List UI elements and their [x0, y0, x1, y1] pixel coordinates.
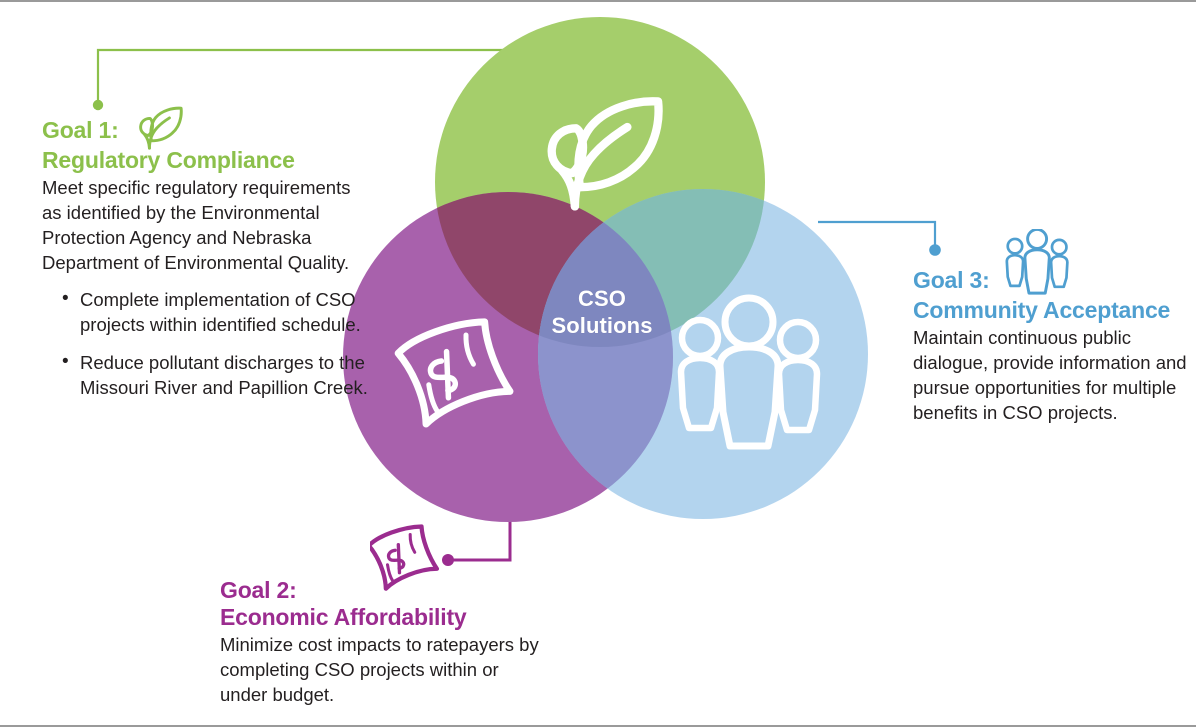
overlap-green-blue [538, 189, 868, 519]
list-item: Reduce pollutant discharges to the Misso… [42, 350, 372, 400]
overlap-green-purple [343, 192, 673, 522]
goal-2-block: Goal 2: Economic Affordability Minimize … [220, 577, 550, 707]
goal-2-number: Goal 2: [220, 577, 550, 604]
goal-1-bullet-list: Complete implementation of CSO projects … [42, 287, 372, 400]
goal-1-number: Goal 1: [42, 117, 119, 144]
leaf-icon [138, 97, 194, 159]
goal-2-title: Economic Affordability [220, 604, 550, 631]
goal-1-heading: Goal 1: Regulatory Compliance [42, 117, 372, 174]
overlap-purple-blue [538, 189, 868, 519]
goal-1-title: Regulatory Compliance [42, 147, 372, 174]
center-label-line2: Solutions [551, 313, 652, 338]
people-group-icon [999, 229, 1077, 305]
goal-3-body: Maintain continuous public dialogue, pro… [913, 325, 1193, 425]
venn-circle-group [343, 17, 868, 522]
people-group-icon [681, 298, 817, 446]
connector-line-goal3 [818, 222, 941, 256]
money-bill-icon [396, 315, 511, 425]
connector-line-goal2 [442, 502, 510, 566]
goal-1-block: Goal 1: Regulatory Compliance Meet speci… [42, 117, 372, 413]
goal-3-block: Goal 3: Community Acceptance Maintain co… [913, 267, 1193, 425]
overlap-triple [538, 189, 868, 519]
goal-3-heading: Goal 3: Community Acceptance [913, 267, 1193, 324]
venn-circle-purple [343, 192, 673, 522]
center-label: CSO Solutions [516, 285, 688, 339]
center-label-line1: CSO [578, 286, 626, 311]
leaf-icon [552, 101, 659, 206]
list-item: Complete implementation of CSO projects … [42, 287, 372, 337]
goal-2-body: Minimize cost impacts to ratepayers by c… [220, 632, 550, 707]
infographic-canvas: CSO Solutions Goal 1: Regulatory Complia… [0, 0, 1196, 727]
goal-1-body: Meet specific regulatory requirements as… [42, 175, 372, 275]
goal-2-heading: Goal 2: Economic Affordability [220, 577, 550, 631]
venn-circle-blue [538, 189, 868, 519]
